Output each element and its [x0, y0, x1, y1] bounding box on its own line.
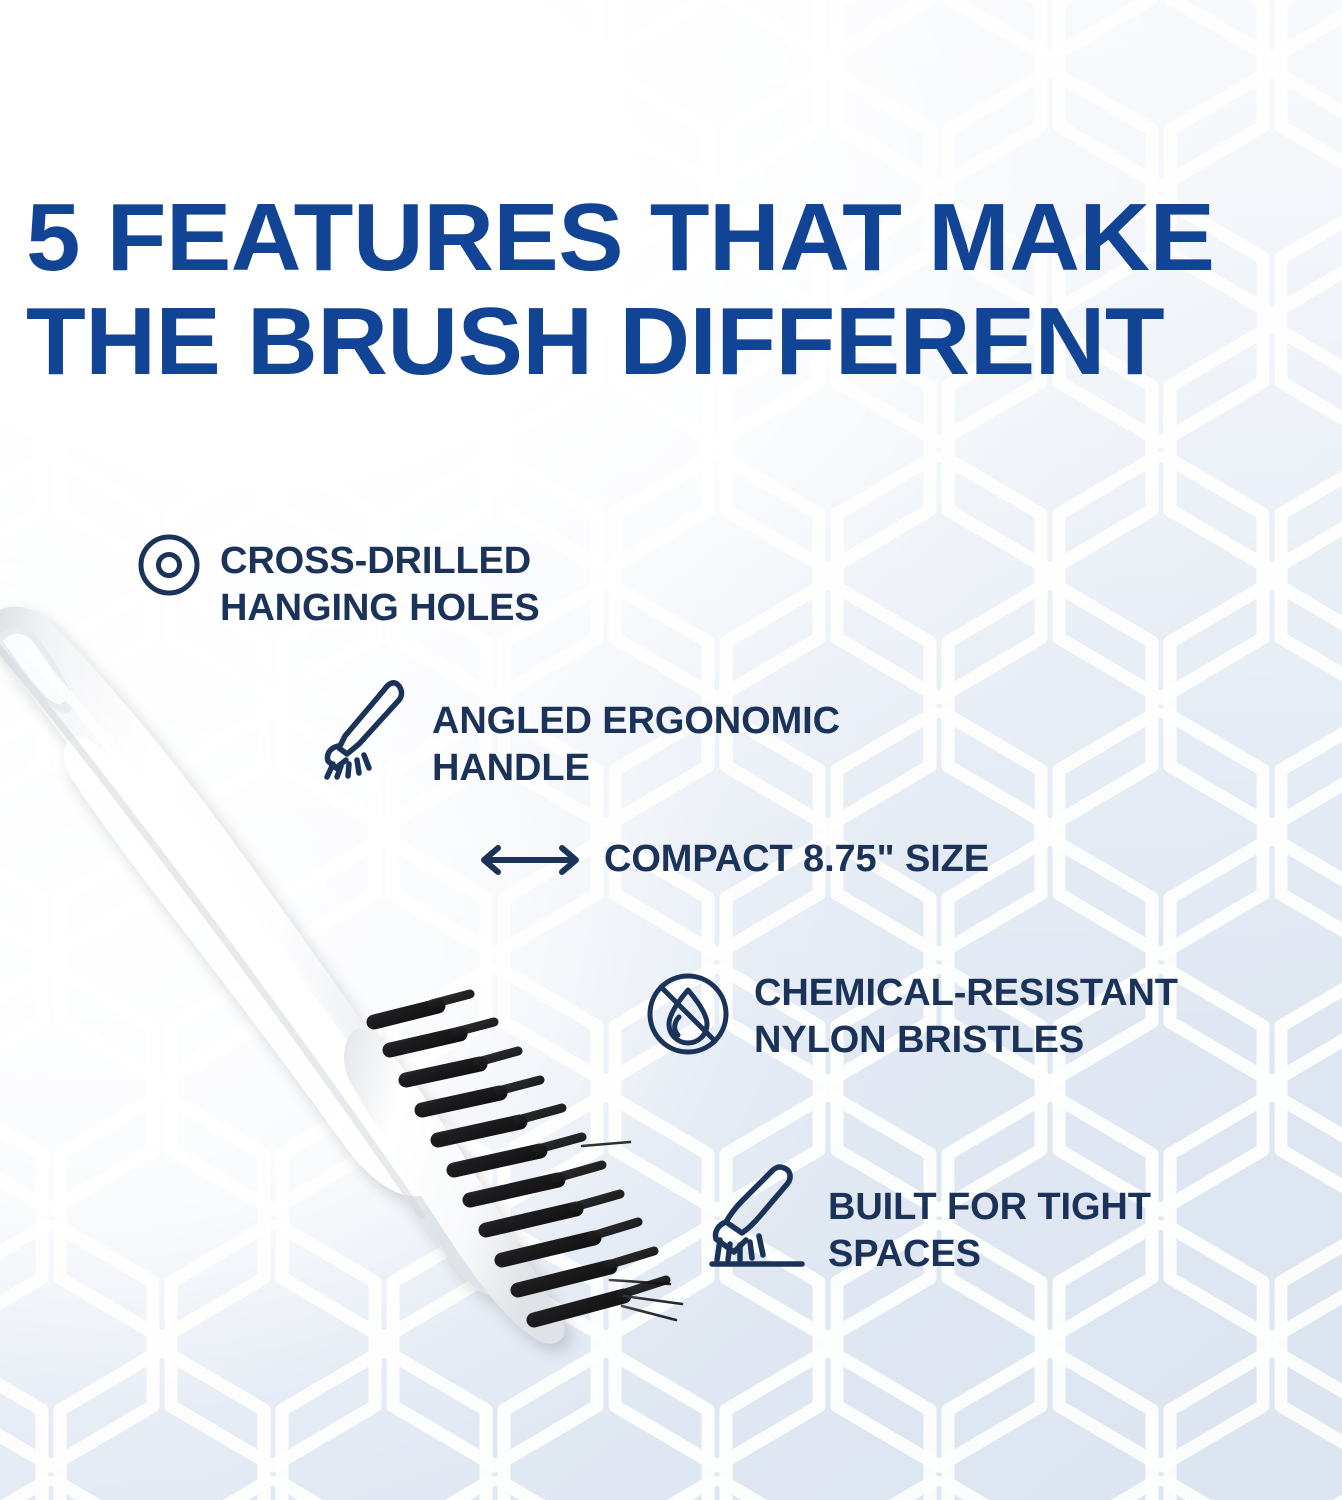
scrub-brush-surface-icon [704, 1160, 810, 1272]
feature-item-hanging-holes: CROSS-DRILLED HANGING HOLES [136, 532, 540, 632]
feature-item-compact-size: COMPACT 8.75" SIZE [474, 836, 989, 883]
feature-item-tight-spaces: BUILT FOR TIGHT SPACES [704, 1160, 1151, 1278]
hanging-hole-icon [136, 532, 202, 598]
double-arrow-icon [474, 839, 586, 881]
feature-item-angled-handle: ANGLED ERGONOMIC HANDLE [314, 676, 840, 792]
feature-item-chemical-resistant: CHEMICAL-RESISTANT NYLON BRISTLES [640, 966, 1178, 1064]
infographic-poster: 5 FEATURES THAT MAKE THE BRUSH DIFFERENT [0, 0, 1342, 1500]
feature-label: CHEMICAL-RESISTANT NYLON BRISTLES [754, 966, 1178, 1064]
feature-label: CROSS-DRILLED HANGING HOLES [220, 532, 540, 632]
feature-label: BUILT FOR TIGHT SPACES [828, 1160, 1151, 1278]
no-water-drop-icon [640, 966, 736, 1062]
feature-list: CROSS-DRILLED HANGING HOLES ANGLED ERGON… [0, 0, 1342, 1500]
feature-label: ANGLED ERGONOMIC HANDLE [432, 676, 840, 792]
feature-label: COMPACT 8.75" SIZE [604, 836, 989, 883]
angled-brush-icon [314, 676, 414, 780]
